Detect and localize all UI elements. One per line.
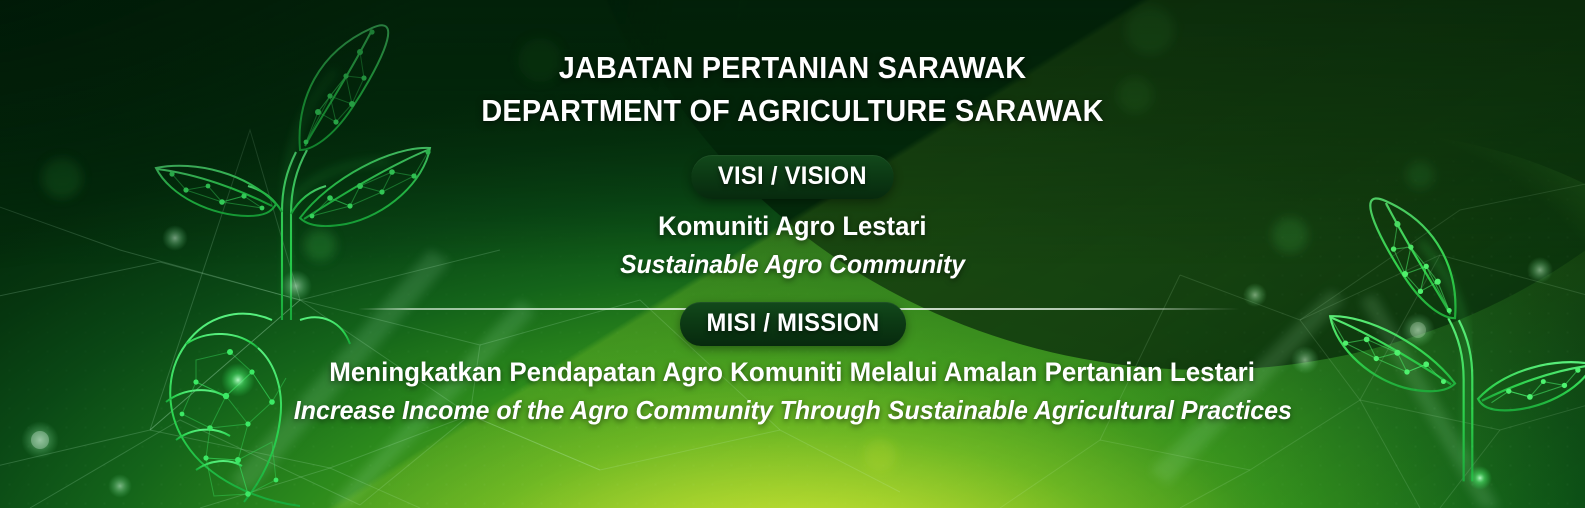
org-name-en: DEPARTMENT OF AGRICULTURE SARAWAK xyxy=(481,94,1103,129)
mission-section: MISI / MISSION xyxy=(674,302,912,346)
vision-statement-bm: Komuniti Agro Lestari xyxy=(658,211,926,242)
mission-statement-en: Increase Income of the Agro Community Th… xyxy=(293,395,1291,426)
vision-mission-banner: JABATAN PERTANIAN SARAWAK DEPARTMENT OF … xyxy=(0,0,1585,508)
vision-badge: VISI / VISION xyxy=(691,155,893,199)
vision-section: VISI / VISION xyxy=(686,155,899,199)
vision-statement-en: Sustainable Agro Community xyxy=(620,249,965,280)
mission-badge: MISI / MISSION xyxy=(679,302,905,346)
banner-content: JABATAN PERTANIAN SARAWAK DEPARTMENT OF … xyxy=(0,0,1585,508)
org-name-bm: JABATAN PERTANIAN SARAWAK xyxy=(481,51,1103,86)
organisation-title: JABATAN PERTANIAN SARAWAK DEPARTMENT OF … xyxy=(458,51,1127,128)
mission-statement-bm: Meningkatkan Pendapatan Agro Komuniti Me… xyxy=(330,357,1256,388)
